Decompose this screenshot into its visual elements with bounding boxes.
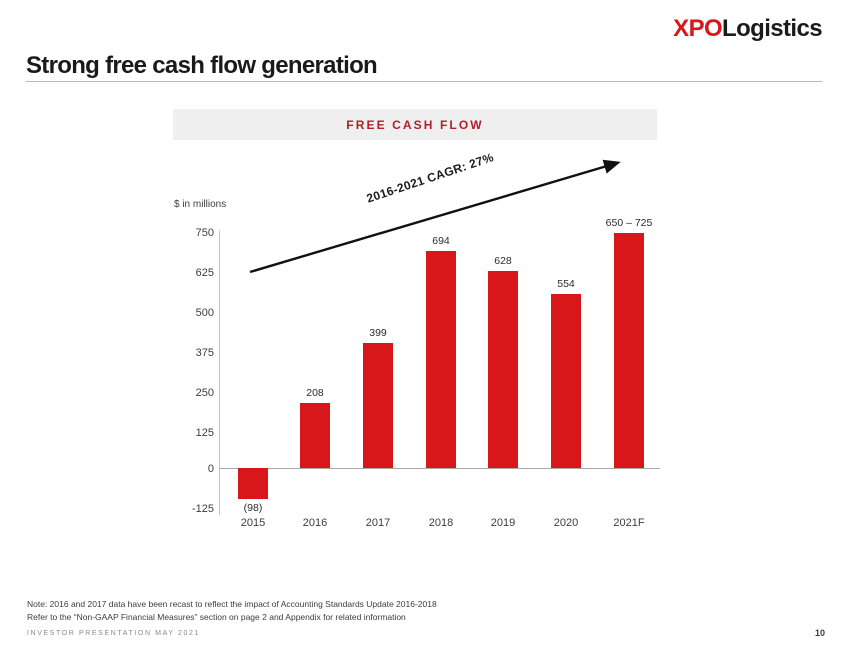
bar-2019 <box>488 271 518 468</box>
bar-label-2020: 554 <box>536 279 596 290</box>
bar-2016 <box>300 403 330 468</box>
zero-baseline <box>219 468 660 469</box>
x-axis-tick-2016: 2016 <box>285 518 345 529</box>
bar-2017 <box>363 343 393 468</box>
bar-label-2018: 694 <box>411 236 471 247</box>
cagr-annotation-label: 2016-2021 CAGR: 27% <box>365 150 496 206</box>
footnotes: Note: 2016 and 2017 data have been recas… <box>27 598 437 624</box>
y-axis-units-label: $ in millions <box>174 199 226 210</box>
footnote-line-1: Note: 2016 and 2017 data have been recas… <box>27 598 437 611</box>
x-axis-tick-2021F: 2021F <box>599 518 659 529</box>
y-axis-tick-375: 375 <box>166 348 214 359</box>
y-axis-tick-neg125: -125 <box>166 504 214 515</box>
bar-2021F <box>614 233 644 468</box>
y-axis-tick-0: 0 <box>166 464 214 475</box>
bar-label-2019: 628 <box>473 256 533 267</box>
footer-meta-label: INVESTOR PRESENTATION MAY 2021 <box>27 630 200 637</box>
x-axis-tick-2019: 2019 <box>473 518 533 529</box>
y-axis-tick-250: 250 <box>166 388 214 399</box>
x-axis-tick-2015: 2015 <box>223 518 283 529</box>
y-axis-tick-750: 750 <box>166 228 214 239</box>
bar-label-2016: 208 <box>285 388 345 399</box>
bar-2018 <box>426 251 456 468</box>
free-cash-flow-bar-chart: $ in millions 750 625 500 375 250 125 0 … <box>0 0 850 657</box>
bar-2020 <box>551 294 581 468</box>
x-axis-tick-2018: 2018 <box>411 518 471 529</box>
bar-label-2017: 399 <box>348 328 408 339</box>
bar-2015 <box>238 468 268 499</box>
page-number: 10 <box>815 628 825 638</box>
cagr-trend-arrow-icon <box>0 0 850 657</box>
y-axis-tick-625: 625 <box>166 268 214 279</box>
x-axis-tick-2020: 2020 <box>536 518 596 529</box>
x-axis-tick-2017: 2017 <box>348 518 408 529</box>
y-axis-tick-500: 500 <box>166 308 214 319</box>
bar-label-2021F: 650 – 725 <box>589 218 669 229</box>
y-axis-tick-125: 125 <box>166 428 214 439</box>
y-axis-line <box>219 230 220 515</box>
footnote-line-2: Refer to the “Non-GAAP Financial Measure… <box>27 611 437 624</box>
bar-label-2015: (98) <box>223 503 283 514</box>
